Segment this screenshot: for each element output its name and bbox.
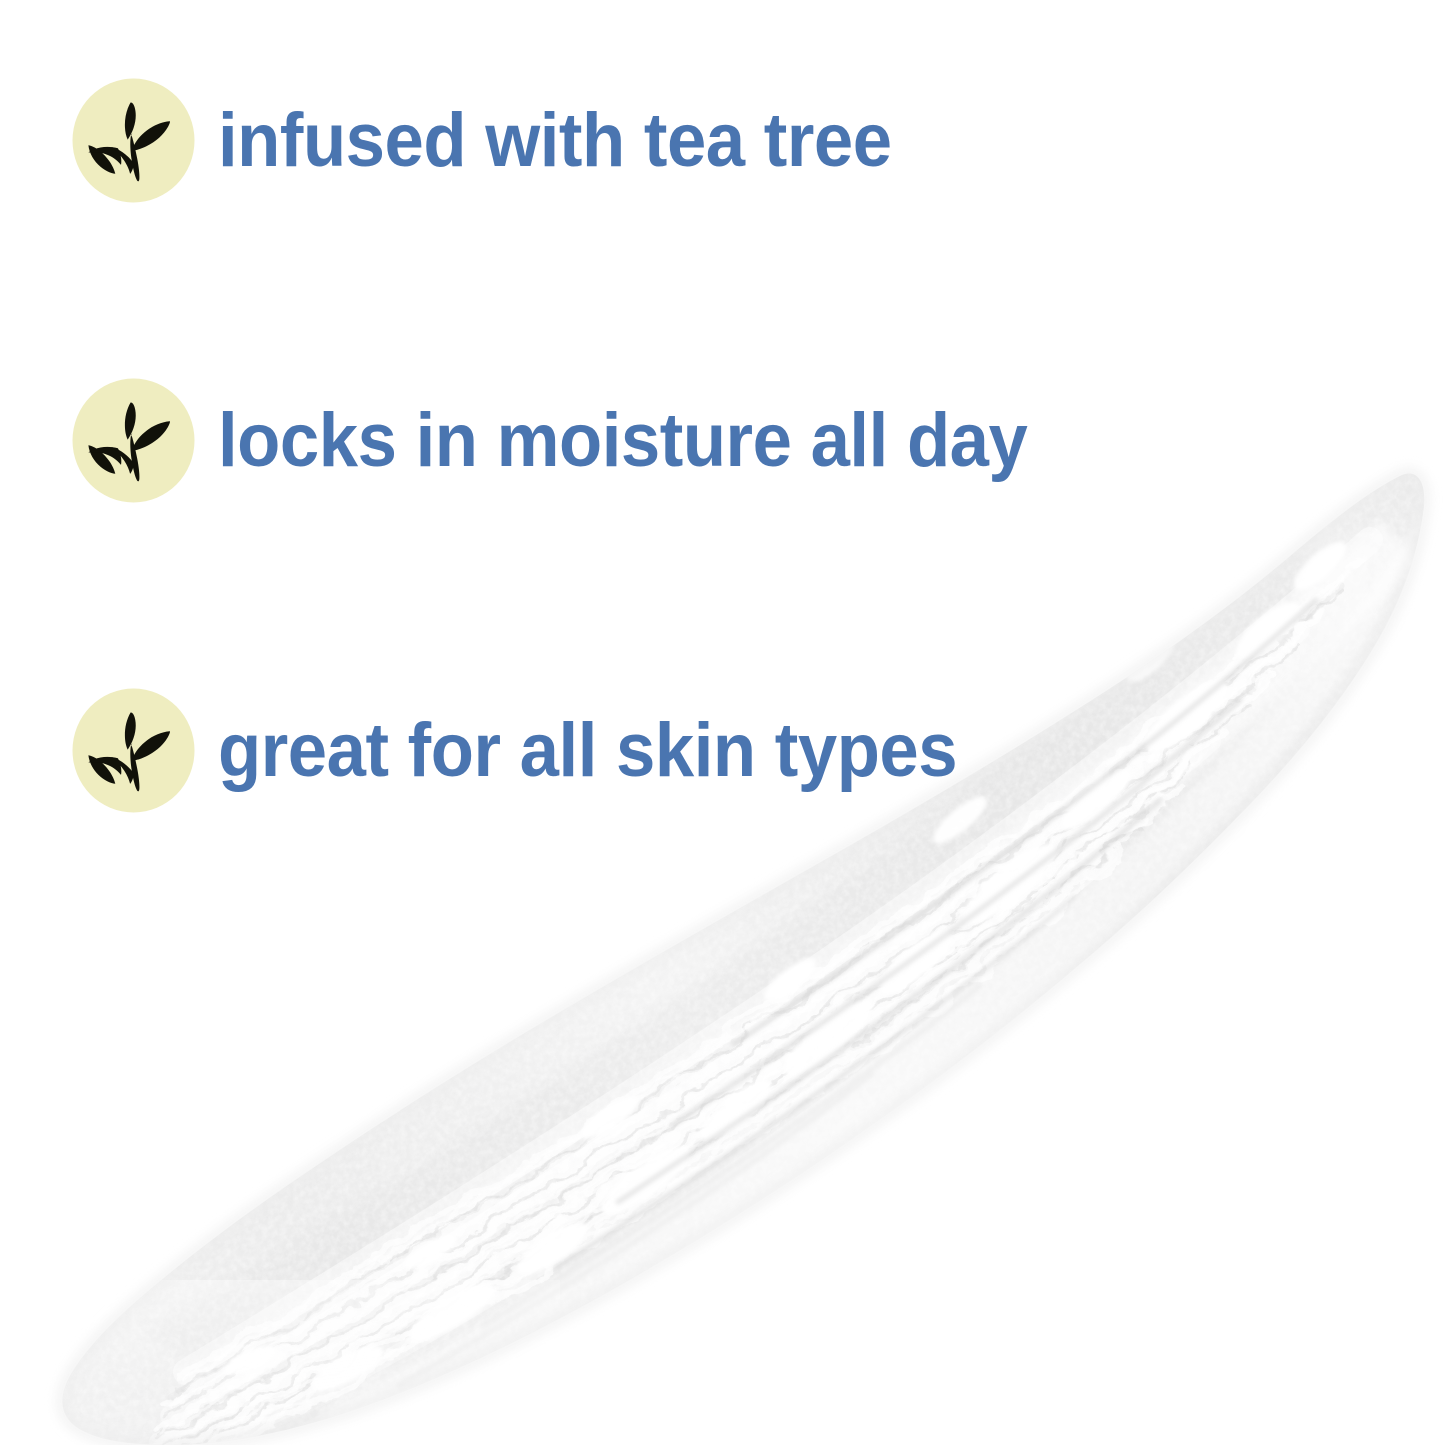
tea-leaf-icon	[72, 78, 195, 203]
benefit-row-2: locks in moisture all day	[72, 378, 1088, 503]
benefit-label-1: infused with tea tree	[218, 103, 892, 179]
benefit-row-3: great for all skin types	[72, 688, 1013, 813]
benefit-label-3: great for all skin types	[218, 713, 957, 789]
product-benefits-image: infused with tea tree locks in moisture …	[0, 0, 1445, 1445]
tea-leaf-icon	[72, 378, 195, 503]
benefit-label-2: locks in moisture all day	[218, 403, 1027, 479]
benefit-row-1: infused with tea tree	[72, 78, 942, 203]
tea-leaf-icon	[72, 688, 195, 813]
